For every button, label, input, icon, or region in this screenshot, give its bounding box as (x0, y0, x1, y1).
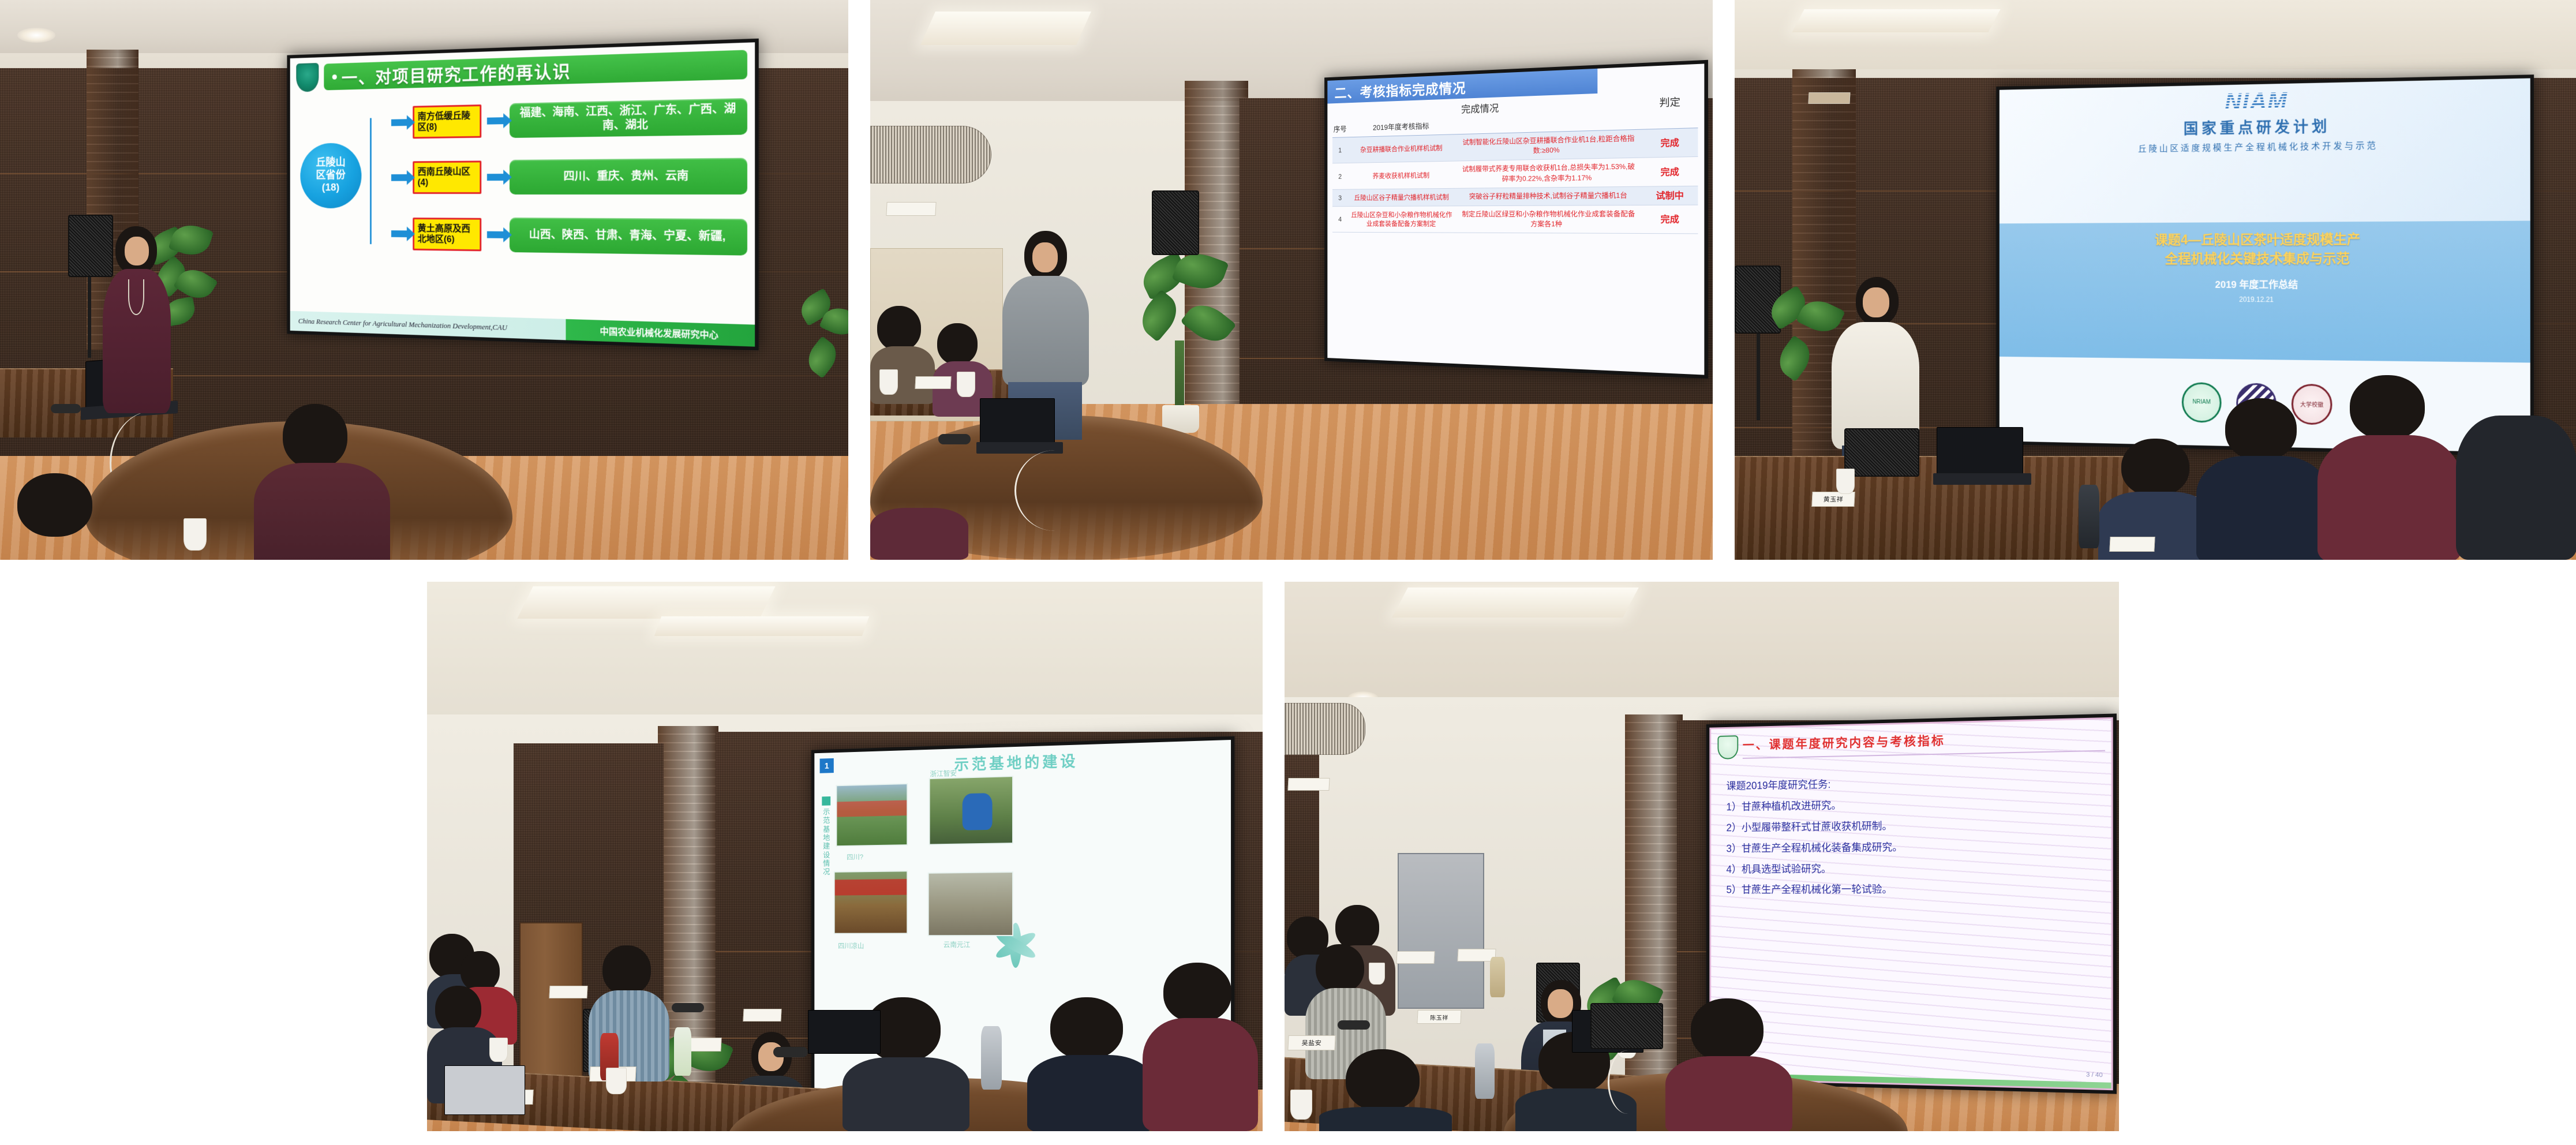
meeting-room-scene: 一、对项目研究工作的再认识 丘陵山 区省份 (18) (0, 0, 848, 560)
photo-caption: 四川? (847, 852, 863, 862)
flow-category: 黄土高原及西北地区(6) (413, 218, 481, 251)
slide-header-band: NIAM 国家重点研发计划 丘陵山区适度规模生产全程机械化技术开发与示范 (2000, 78, 2530, 223)
laptop-screen (808, 1010, 881, 1054)
attendee (2317, 375, 2462, 560)
name-card: 陈玉祥 (1417, 1010, 1461, 1024)
laptop-keyboard (1933, 473, 2031, 485)
attendee-head (602, 945, 651, 995)
paper-cup (184, 518, 207, 551)
cell-no: 2 (1332, 163, 1347, 189)
table-header-judge: 判定 (1642, 93, 1698, 110)
presenter (92, 226, 185, 417)
thermos-bottle (2079, 485, 2099, 548)
flow-center-node: 丘陵山 区省份 (18) (300, 143, 361, 208)
attendee (1665, 998, 1792, 1131)
paper-cup (1369, 963, 1385, 985)
attendee-body (2317, 435, 2462, 560)
arrow-icon (391, 230, 407, 237)
photo-panel-top-left: 一、对项目研究工作的再认识 丘陵山 区省份 (18) (0, 0, 848, 560)
presenter-face (1863, 287, 1889, 317)
flow-provinces: 福建、海南、江西、浙江、广东、广西、湖南、湖北 (510, 98, 747, 138)
water-bottle (1490, 957, 1505, 997)
center-node-line3: (18) (322, 182, 339, 194)
cable (1014, 450, 1095, 531)
cau-logo-icon (296, 63, 319, 92)
attendee-head (1163, 963, 1231, 1023)
assessment-table: 序号 2019年度考核指标 1 杂豆耕播联合作业机样机试制 试制智能化丘陵山区杂… (1327, 108, 1704, 375)
attendee-body (1665, 1056, 1792, 1131)
attendee-head (2121, 439, 2189, 496)
name-card (549, 986, 587, 998)
cable (1608, 1050, 1648, 1114)
slide-bullet: 2）小型履带整秆式甘蔗收获机研制。 (1726, 813, 2101, 839)
slide-surface: 二、考核指标完成情况 完成情况 判定 序号 2019年度考核指标 (1327, 63, 1704, 375)
col-indicator: 2019年度考核指标 (1347, 117, 1455, 137)
arrow-icon (487, 231, 504, 238)
attendee-body (2456, 416, 2576, 560)
cell-judge: 完成 (1642, 205, 1698, 234)
report-type: 2019 年度工作总结 (2000, 276, 2530, 292)
meeting-room-scene: NIAM 国家重点研发计划 丘陵山区适度规模生产全程机械化技术开发与示范 课题4… (1735, 0, 2576, 560)
cell-indicator: 丘陵山区杂豆和小杂粮作物机械化作业成套装备配备方案制定 (1347, 206, 1455, 233)
slide-bullet: 5）甘蔗生产全程机械化第一轮试验。 (1726, 878, 2101, 900)
cell-judge: 完成 (1642, 157, 1698, 186)
microphone (672, 1003, 704, 1012)
presenter-face (1032, 242, 1058, 272)
slide-footer-cn: 中国农业机械化发展研究中心 (566, 323, 755, 342)
attendee-head (1691, 998, 1763, 1062)
slide-topic-band: 课题4—丘陵山区茶叶适度规模生产 全程机械化关键技术集成与示范 2019 年度工… (2000, 220, 2530, 363)
presenter-face (125, 237, 149, 265)
projection-screen: 一、对项目研究工作的再认识 丘陵山 区省份 (18) (287, 39, 758, 351)
center-node-line2: 区省份 (316, 170, 345, 182)
slide-title-text: 一、对项目研究工作的再认识 (342, 57, 571, 89)
name-card (1396, 951, 1435, 964)
attendee-head (283, 404, 347, 469)
laptop-screen (1937, 427, 2023, 476)
microphone (773, 1047, 808, 1057)
microphone (1338, 1020, 1370, 1030)
flowchart-body: 丘陵山 区省份 (18) 南方低缓丘陵区(8) 福建、海南、江西、浙江、广东、广… (297, 87, 747, 320)
attendee (248, 398, 398, 560)
flow-row: 西南丘陵山区(4) 四川、重庆、贵州、云南 (391, 155, 747, 197)
ceiling-light-icon (17, 28, 55, 43)
arrow-icon (487, 117, 504, 124)
photo-panel-bottom-left: 1 示范基地的建设 示范基地建设情况 (427, 582, 1263, 1131)
cell-indicator: 荞麦收获机样机试制 (1347, 162, 1455, 189)
projection-screen: 二、考核指标完成情况 完成情况 判定 序号 2019年度考核指标 (1324, 60, 1708, 379)
name-card (2109, 537, 2155, 552)
attendee-body (2196, 456, 2329, 560)
presenter-face (1548, 989, 1573, 1018)
laptop-screen (444, 1065, 525, 1115)
attendee-head (1050, 997, 1123, 1060)
slide-surface: 一、对项目研究工作的再认识 丘陵山 区省份 (18) (290, 42, 755, 346)
slide-side-label: 示范基地建设情况 (823, 807, 833, 876)
attendee-body (1027, 1055, 1154, 1131)
wall-sign (1287, 778, 1330, 791)
arrow-icon (391, 119, 407, 126)
slide-bullet: 3）甘蔗生产全程机械化装备集成研究。 (1726, 835, 2101, 859)
table-row: 4 丘陵山区杂豆和小杂粮作物机械化作业成套装备配备方案制定 制定丘陵山区绿豆和小… (1332, 205, 1698, 234)
attendee-body (1143, 1018, 1258, 1131)
slide-title: 一、对项目研究工作的再认识 (324, 50, 747, 90)
report-date: 2019.12.21 (2000, 295, 2530, 305)
cell-indicator: 丘陵山区谷子精量穴播机样机试制 (1347, 189, 1455, 206)
paper-cup (489, 1038, 508, 1062)
topic-line2: 全程机械化关键技术集成与示范 (2000, 249, 2530, 268)
cell-judge: 完成 (1642, 128, 1698, 158)
topic-line1: 课题4—丘陵山区茶叶适度规模生产 (2000, 229, 2530, 250)
attendee (1319, 1049, 1452, 1131)
photo-caption: 云南元江 (943, 940, 971, 949)
presenter-body (1002, 276, 1089, 386)
slide-assessment-table: 二、考核指标完成情况 完成情况 判定 序号 2019年度考核指标 (1327, 63, 1704, 375)
thermos-bottle (981, 1026, 1002, 1090)
speaker-stand (88, 277, 91, 358)
ceiling-light-strip (1792, 9, 2000, 32)
ceiling-light-strip (1392, 588, 1639, 618)
attendee (1027, 997, 1154, 1131)
arrow-icon (487, 174, 504, 181)
cell-done: 制定丘陵山区绿豆和小杂粮作物机械化作业成套装备配备方案各1种 (1456, 205, 1642, 234)
attendee (0, 473, 133, 560)
flow-row: 黄土高原及西北地区(6) 山西、陕西、甘肃、青海、宁夏、新疆, (391, 214, 747, 259)
paper-cup (957, 372, 975, 397)
name-card (743, 1009, 781, 1021)
attendee-head (1346, 1049, 1420, 1112)
cell-no: 3 (1332, 190, 1347, 206)
cell-done: 试制智能化丘陵山区杂豆耕播联合作业机1台,粒距合格指数:≥80% (1456, 129, 1642, 161)
necklace (128, 279, 144, 315)
photo-caption: 浙江智安 (930, 768, 957, 779)
flow-connector-line (370, 118, 372, 244)
wall-sign (886, 202, 936, 216)
attendee-head (17, 473, 92, 537)
microphone (938, 434, 971, 444)
water-bottle (674, 1027, 691, 1076)
attendee (2456, 416, 2576, 560)
thermos-bottle (1475, 1043, 1495, 1099)
paper-cup (879, 369, 898, 395)
air-vent (870, 126, 991, 184)
demo-photo (928, 871, 1013, 936)
meeting-room-scene: 1 示范基地的建设 示范基地建设情况 (427, 582, 1263, 1131)
monitor (1152, 190, 1199, 255)
cup-cabinet (1398, 853, 1484, 1009)
slide-page-number: 3 / 40 (2086, 1071, 2103, 1079)
attendee-head (1316, 944, 1364, 993)
cell-done: 试制履带式荞麦专用联合收获机1台,总损失率为1.53%,破碎率为0.22%,含杂… (1456, 158, 1642, 188)
slide-footer-en: China Research Center for Agricultural M… (290, 316, 566, 334)
arrow-icon (391, 174, 407, 181)
attendee-head (937, 323, 978, 365)
wall-sign (1808, 92, 1850, 104)
laptop-screen (980, 398, 1055, 444)
flow-row: 南方低缓丘陵区(8) 福建、海南、江西、浙江、广东、广西、湖南、湖北 (391, 95, 747, 143)
potted-plant (1136, 254, 1245, 450)
slide-bullet: 4）机具选型试验研究。 (1726, 856, 2101, 880)
air-vent (1285, 703, 1365, 755)
monitor (1590, 1003, 1663, 1049)
flow-category: 南方低缓丘陵区(8) (413, 104, 481, 139)
potted-plant (797, 289, 848, 439)
col-spacer2 (1642, 109, 1698, 129)
flow-provinces: 四川、重庆、贵州、云南 (510, 158, 747, 194)
photo-panel-bottom-right: 一、课题年度研究内容与考核指标 课题2019年度研究任务: 1）甘蔗种植机改进研… (1285, 582, 2119, 1131)
meeting-room-scene: 二、考核指标完成情况 完成情况 判定 序号 2019年度考核指标 (870, 0, 1713, 560)
slide-title: 一、课题年度研究内容与考核指标 (1743, 728, 2105, 759)
photo-panel-top-middle: 二、考核指标完成情况 完成情况 判定 序号 2019年度考核指标 (870, 0, 1713, 560)
attendee (1143, 963, 1258, 1130)
attendee-body (843, 1057, 969, 1131)
cell-indicator: 杂豆耕播联合作业机样机试制 (1347, 134, 1455, 163)
table-row: 3 丘陵山区谷子精量穴播机样机试制 突破谷子籽粒精量排种技术,试制谷子精量穴播机… (1332, 186, 1698, 207)
attendee-head (2350, 375, 2425, 440)
speaker-stand (1757, 334, 1760, 420)
attendee (870, 508, 968, 560)
monitor (1844, 428, 1919, 477)
marker-square-icon (822, 796, 830, 806)
name-card (915, 376, 951, 389)
attendee-head (877, 306, 921, 351)
photo-panel-top-right: NIAM 国家重点研发计划 丘陵山区适度规模生产全程机械化技术开发与示范 课题4… (1735, 0, 2576, 560)
photo-caption: 四川凉山 (838, 941, 864, 951)
demo-photo (929, 776, 1013, 845)
paper-cup (606, 1068, 627, 1094)
attendee-head (2225, 398, 2297, 461)
demo-photo (836, 783, 908, 847)
paper-cup (1290, 1090, 1312, 1120)
ceiling-light-strip (920, 12, 1091, 45)
cell-done: 突破谷子籽粒精量排种技术,试制谷子精量穴播机1台 (1456, 187, 1642, 205)
slide-title: 示范基地的建设 (814, 744, 1231, 779)
ceiling-light-strip (517, 586, 775, 619)
meeting-room-scene: 一、课题年度研究内容与考核指标 课题2019年度研究任务: 1）甘蔗种植机改进研… (1285, 582, 2119, 1131)
photo-collage: 一、对项目研究工作的再认识 丘陵山 区省份 (18) (0, 0, 2576, 1145)
center-node-line1: 丘陵山 (316, 157, 345, 170)
bullet-icon (332, 74, 337, 80)
attendee-body (870, 508, 968, 560)
attendee-body (254, 463, 390, 560)
attendee-head (435, 986, 481, 1033)
microphone (51, 404, 81, 413)
attendee-body (1319, 1107, 1452, 1131)
attendee (2196, 398, 2329, 560)
attendee-head (1335, 905, 1379, 950)
cell-judge: 试制中 (1642, 186, 1698, 205)
name-card: 吴盐安 (1287, 1035, 1335, 1050)
cell-no: 1 (1332, 137, 1347, 163)
cell-no: 4 (1332, 207, 1347, 233)
paper-cup (1836, 469, 1855, 494)
slide-body: 课题2019年度研究任务: 1）甘蔗种植机改进研究。 2）小型履带整秆式甘蔗收获… (1726, 769, 2101, 901)
institute-logo-icon (1717, 735, 1738, 759)
flow-provinces: 山西、陕西、甘肃、青海、宁夏、新疆, (510, 218, 747, 256)
flow-category: 西南丘陵山区(4) (413, 160, 481, 194)
demo-photo (834, 870, 908, 934)
col-no: 序号 (1332, 121, 1347, 137)
slide-flowchart: 一、对项目研究工作的再认识 丘陵山 区省份 (18) (290, 42, 755, 346)
ceiling-light-strip (654, 616, 869, 636)
